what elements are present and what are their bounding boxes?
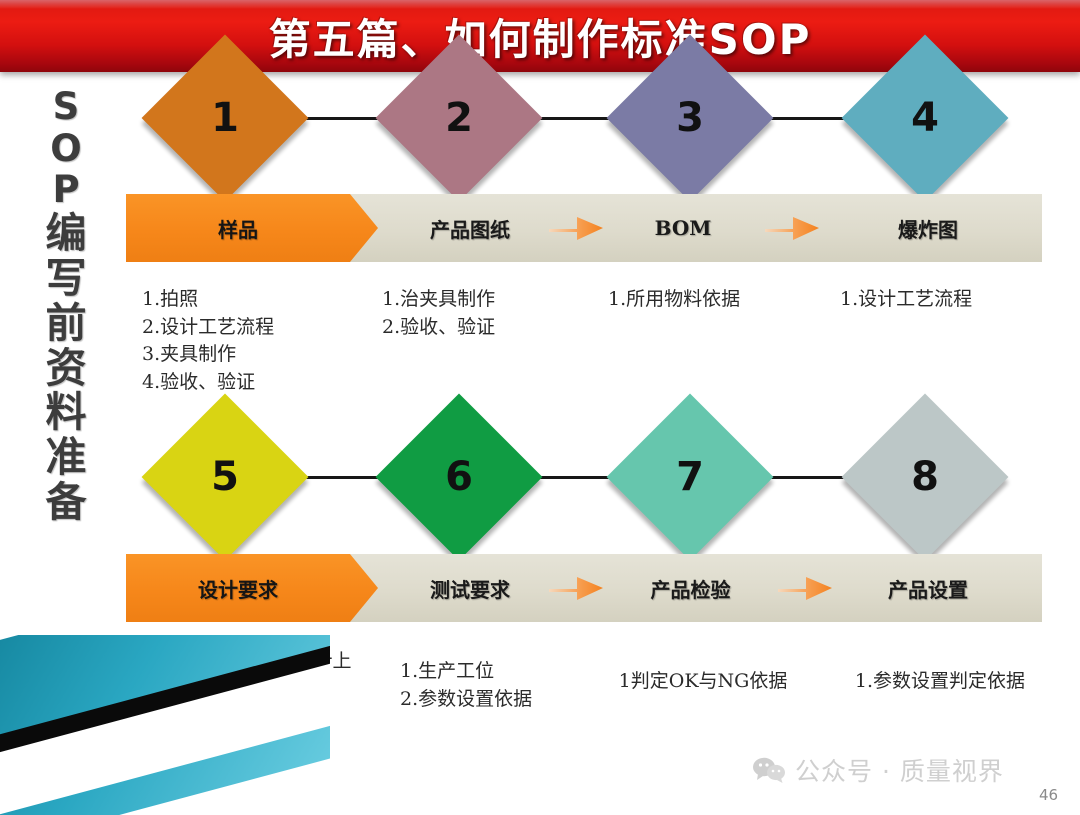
ribbon-label-7[interactable]: 产品检验: [608, 554, 773, 622]
step-number-4: 4: [866, 59, 984, 177]
bullet-item: 2.参数设置依据: [400, 686, 615, 714]
side-title-char-1: O: [50, 130, 81, 168]
bullet-list-6: 1.生产工位 2.参数设置依据: [400, 658, 615, 713]
bullet-item: 1.生产工位: [400, 658, 615, 686]
side-title-char-7: 料: [46, 392, 87, 434]
side-title-char-8: 准: [46, 437, 87, 479]
side-title-char-4: 写: [46, 258, 87, 300]
ribbon-label-2[interactable]: 产品图纸: [380, 194, 560, 262]
ribbon-label-3[interactable]: BOM: [608, 194, 758, 262]
bullet-item: 1.参数设置判定依据: [845, 668, 1035, 696]
step-number-5: 5: [166, 418, 284, 536]
bullet-list-7: 1判定OK与NG依据: [614, 668, 792, 696]
bullet-list-4: 1.设计工艺流程: [840, 286, 1060, 314]
ribbon-label-text-8: 产品设置: [888, 574, 968, 603]
step-number-3: 3: [631, 59, 749, 177]
wechat-icon: [752, 756, 786, 784]
ribbon-arrow-icon-2: [765, 214, 819, 242]
vertical-section-title: S O P 编 写 前 资 料 准 备: [30, 88, 102, 628]
step-number-8: 8: [866, 418, 984, 536]
ribbon-label-5[interactable]: 设计要求: [126, 554, 350, 622]
step-diamond-6[interactable]: 6: [376, 394, 543, 561]
ribbon-label-text-3: BOM: [655, 216, 712, 240]
bullet-item: 1判定OK与NG依据: [614, 668, 792, 696]
ribbon-label-text-5: 设计要求: [198, 574, 278, 603]
step-number-6: 6: [400, 418, 518, 536]
ribbon-label-text-2: 产品图纸: [430, 214, 510, 243]
step-number-2: 2: [400, 59, 518, 177]
bullet-list-1: 1.拍照 2.设计工艺流程 3.夹具制作 4.验收、验证: [142, 286, 372, 396]
bullet-list-2: 1.治夹具制作 2.验收、验证: [382, 286, 602, 341]
bullet-item: 4.验收、验证: [142, 369, 372, 397]
slide-canvas: 第五篇、如何制作标准SOP S O P 编 写 前 资 料 准 备 1 2 3 …: [0, 0, 1080, 815]
ribbon-label-text-7: 产品检验: [651, 574, 731, 603]
bullet-item: 2.设计工艺流程: [142, 314, 372, 342]
side-title-char-2: P: [52, 171, 79, 209]
bullet-item: 1.拍照: [142, 286, 372, 314]
side-title-char-3: 编: [46, 213, 87, 255]
ribbon-label-4[interactable]: 爆炸图: [838, 194, 1018, 262]
ribbon-label-8[interactable]: 产品设置: [838, 554, 1018, 622]
step-diamond-8[interactable]: 8: [842, 394, 1009, 561]
bullet-item: 3.夹具制作: [142, 341, 372, 369]
step-diamond-7[interactable]: 7: [607, 394, 774, 561]
ribbon-label-text-6: 测试要求: [430, 574, 510, 603]
step-diamond-5[interactable]: 5: [142, 394, 309, 561]
ribbon-arrow-icon-1: [549, 214, 603, 242]
side-title-char-5: 前: [46, 303, 87, 345]
watermark: 公众号 · 质量视界: [752, 752, 1004, 788]
side-title-char-6: 资: [46, 348, 87, 390]
bullet-list-3: 1.所用物料依据: [608, 286, 828, 314]
bullet-item: 1.所用物料依据: [608, 286, 828, 314]
side-title-char-9: 备: [46, 482, 87, 524]
side-title-char-0: S: [53, 88, 80, 126]
ribbon-label-text-4: 爆炸图: [898, 214, 958, 243]
step-diamond-4[interactable]: 4: [842, 35, 1009, 202]
ribbon-arrow-icon-4: [778, 574, 832, 602]
ribbon-label-1[interactable]: 样品: [126, 194, 350, 262]
ribbon-arrow-icon-3: [549, 574, 603, 602]
watermark-text: 公众号 · 质量视界: [795, 752, 1004, 788]
ribbon-label-6[interactable]: 测试要求: [380, 554, 560, 622]
bullet-item: 2.验收、验证: [382, 314, 602, 342]
page-number: 46: [1039, 786, 1058, 804]
ribbon-label-text-1: 样品: [218, 214, 258, 243]
step-diamond-2[interactable]: 2: [376, 35, 543, 202]
bullet-item: 1.治夹具制作: [382, 286, 602, 314]
bullet-item: 1.设计工艺流程: [840, 286, 1060, 314]
bullet-list-8: 1.参数设置判定依据: [845, 668, 1035, 696]
corner-decoration: [0, 635, 330, 815]
step-diamond-1[interactable]: 1: [142, 35, 309, 202]
step-number-7: 7: [631, 418, 749, 536]
step-number-1: 1: [166, 59, 284, 177]
step-diamond-3[interactable]: 3: [607, 35, 774, 202]
